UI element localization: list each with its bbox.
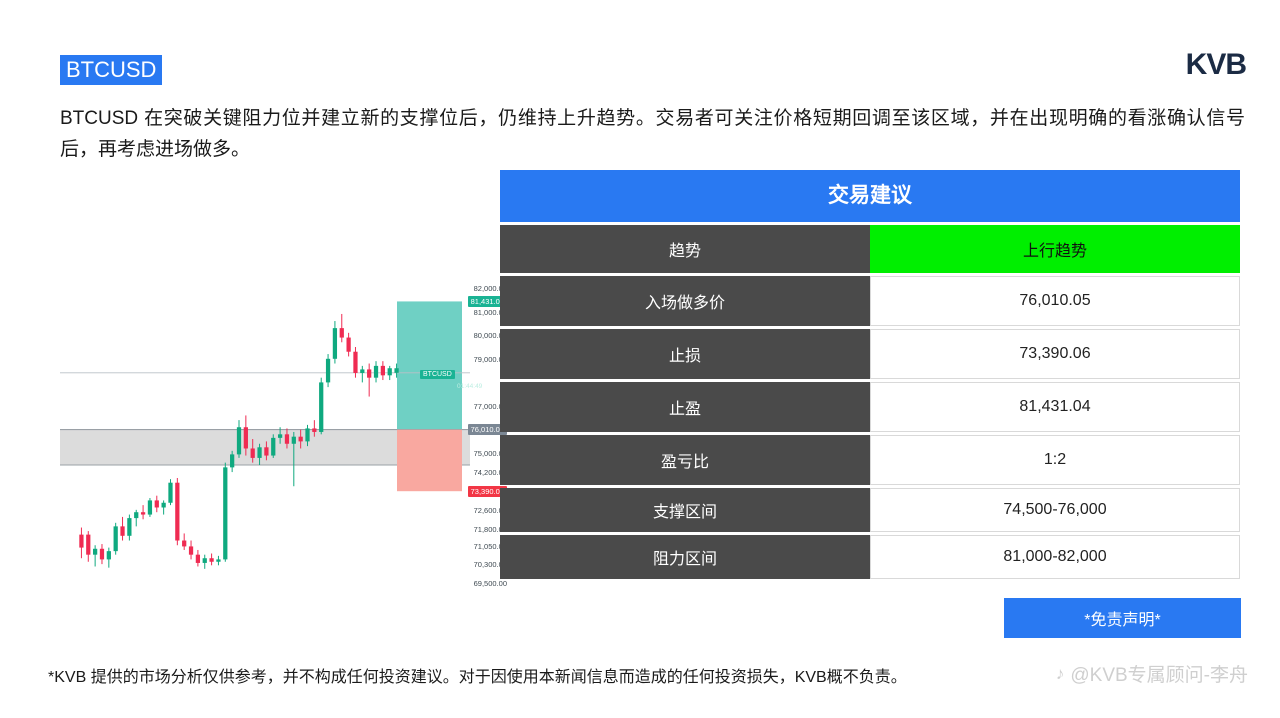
chart-canvas bbox=[60, 175, 510, 595]
candle-body bbox=[203, 558, 207, 563]
candle-body bbox=[93, 549, 97, 555]
candle-body bbox=[189, 546, 193, 554]
row-value: 76,010.05 bbox=[870, 276, 1240, 326]
candle-body bbox=[353, 352, 357, 373]
candle-body bbox=[333, 328, 337, 359]
candle-body bbox=[360, 369, 364, 373]
trade-suggestion-table: 交易建议 趋势上行趋势入场做多价76,010.05止损73,390.06止盈81… bbox=[500, 170, 1240, 579]
candle-body bbox=[141, 512, 145, 514]
table-body: 趋势上行趋势入场做多价76,010.05止损73,390.06止盈81,431.… bbox=[500, 225, 1240, 579]
row-label: 入场做多价 bbox=[500, 276, 870, 326]
candle-body bbox=[120, 526, 124, 535]
candle-body bbox=[312, 428, 316, 432]
page-title: BTCUSD bbox=[60, 55, 162, 85]
candle-body bbox=[230, 454, 234, 467]
candle-body bbox=[196, 555, 200, 563]
table-row: 盈亏比1:2 bbox=[500, 435, 1240, 485]
chart-symbol-tag: BTCUSD bbox=[420, 370, 455, 379]
profit-zone bbox=[397, 301, 462, 429]
candle-body bbox=[237, 427, 241, 454]
candle-body bbox=[114, 526, 118, 551]
analysis-description: BTCUSD 在突破关键阻力位并建立新的支撑位后，仍维持上升趋势。交易者可关注价… bbox=[60, 103, 1245, 165]
candle-body bbox=[216, 559, 220, 561]
table-row: 止盈81,431.04 bbox=[500, 382, 1240, 432]
row-label: 盈亏比 bbox=[500, 435, 870, 485]
table-row: 止损73,390.06 bbox=[500, 329, 1240, 379]
candle-body bbox=[148, 500, 152, 514]
table-row: 入场做多价76,010.05 bbox=[500, 276, 1240, 326]
row-label: 趋势 bbox=[500, 225, 870, 273]
candle-body bbox=[175, 483, 179, 541]
candle-body bbox=[107, 551, 111, 559]
candle-body bbox=[394, 368, 398, 373]
candle-body bbox=[367, 369, 371, 377]
row-label: 止损 bbox=[500, 329, 870, 379]
candle-body bbox=[299, 437, 303, 442]
footer-disclaimer: *KVB 提供的市场分析仅供参考，并不构成任何投资建议。对于因使用本新闻信息而造… bbox=[48, 663, 907, 687]
candle-body bbox=[86, 535, 90, 555]
candle-body bbox=[168, 483, 172, 503]
candle-body bbox=[79, 535, 83, 548]
candle-body bbox=[251, 448, 255, 457]
candle-body bbox=[162, 503, 166, 508]
row-value: 1:2 bbox=[870, 435, 1240, 485]
candle-body bbox=[182, 541, 186, 547]
candle-body bbox=[340, 328, 344, 337]
disclaimer-button[interactable]: *免责声明* bbox=[1004, 598, 1241, 638]
candle-body bbox=[374, 366, 378, 378]
candle-body bbox=[209, 558, 213, 562]
row-label: 支撑区间 bbox=[500, 488, 870, 532]
candle-body bbox=[134, 512, 138, 518]
candle-body bbox=[305, 428, 309, 441]
candle-body bbox=[319, 382, 323, 432]
music-note-icon: ♪ bbox=[1056, 664, 1065, 684]
candle-body bbox=[257, 447, 261, 458]
row-label: 止盈 bbox=[500, 382, 870, 432]
candle-body bbox=[285, 434, 289, 443]
candle-body bbox=[264, 447, 268, 455]
row-label: 阻力区间 bbox=[500, 535, 870, 579]
row-value: 73,390.06 bbox=[870, 329, 1240, 379]
candle-body bbox=[100, 549, 104, 560]
row-value: 81,000-82,000 bbox=[870, 535, 1240, 579]
candle-body bbox=[155, 500, 159, 507]
axis-tick-label: 69,500.00 bbox=[474, 579, 507, 588]
candle-body bbox=[271, 438, 275, 456]
table-header: 交易建议 bbox=[500, 170, 1240, 222]
kvb-logo: KVB bbox=[1186, 48, 1246, 82]
table-row: 支撑区间74,500-76,000 bbox=[500, 488, 1240, 532]
candle-body bbox=[326, 359, 330, 383]
candle-body bbox=[388, 368, 392, 375]
page-title-wrap: BTCUSD bbox=[60, 55, 162, 85]
candle-body bbox=[381, 366, 385, 375]
row-value: 81,431.04 bbox=[870, 382, 1240, 432]
watermark: ♪ @KVB专属顾问-李舟 bbox=[1056, 660, 1248, 687]
candle-body bbox=[278, 434, 282, 438]
candle-body bbox=[127, 518, 131, 536]
candle-body bbox=[346, 338, 350, 352]
table-row: 趋势上行趋势 bbox=[500, 225, 1240, 273]
candle-body bbox=[292, 437, 296, 444]
candle-body bbox=[244, 427, 248, 448]
candlestick-chart bbox=[60, 175, 510, 595]
row-value: 上行趋势 bbox=[870, 225, 1240, 273]
candle-body bbox=[223, 467, 227, 559]
table-row: 阻力区间81,000-82,000 bbox=[500, 535, 1240, 579]
loss-zone bbox=[397, 429, 462, 491]
watermark-text: @KVB专属顾问-李舟 bbox=[1070, 660, 1248, 687]
row-value: 74,500-76,000 bbox=[870, 488, 1240, 532]
